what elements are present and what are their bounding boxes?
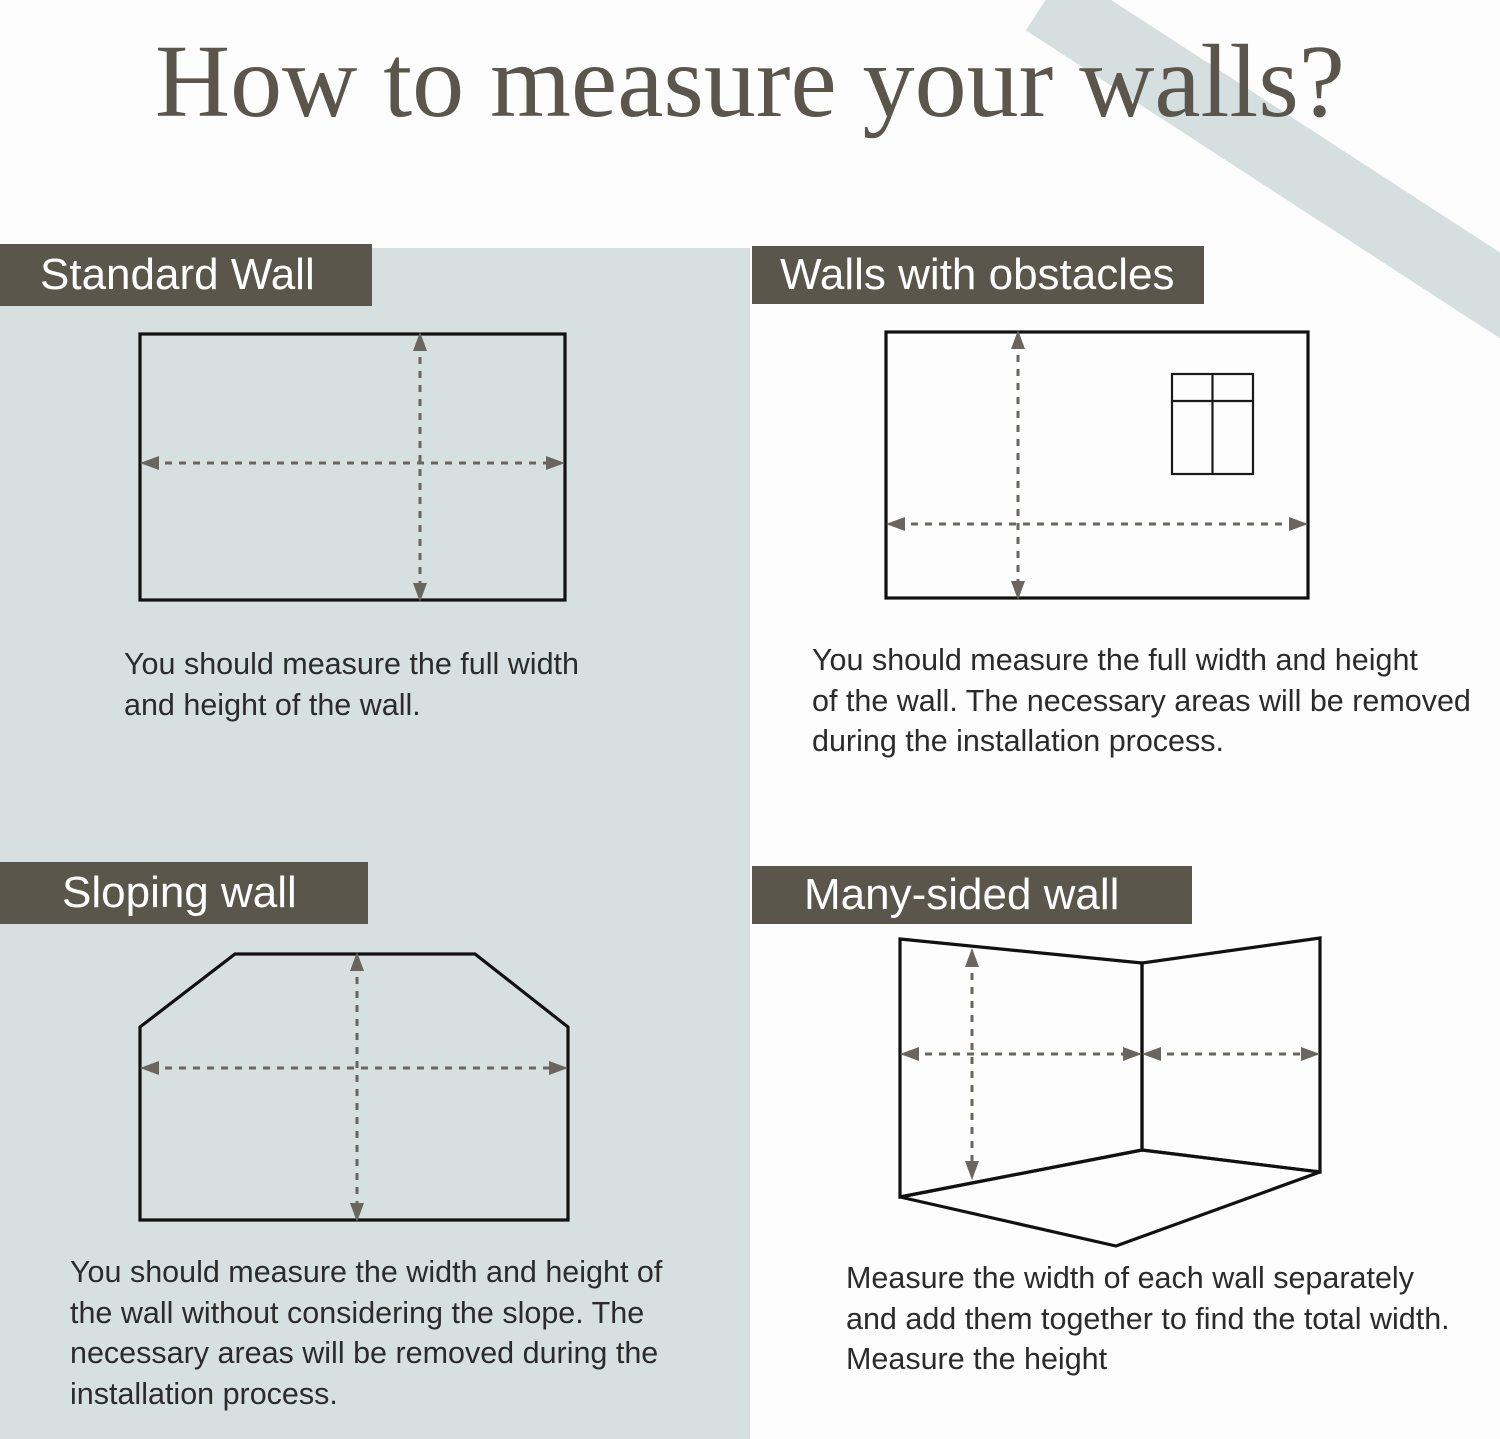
section-badge-many-sided-wall: Many-sided wall: [752, 866, 1192, 924]
width-dimension-arrow-left-wall: [900, 1047, 1142, 1061]
height-dimension-arrow: [965, 948, 979, 1180]
height-dimension-arrow: [413, 332, 427, 602]
room-floor: [900, 1150, 1320, 1246]
diagram-sloping-wall: [110, 930, 610, 1250]
page-title: How to measure your walls?: [0, 26, 1500, 138]
diagram-many-sided-wall: [870, 925, 1350, 1265]
section-body-walls-with-obstacles: You should measure the full width and he…: [812, 640, 1472, 762]
section-badge-walls-with-obstacles: Walls with obstacles: [752, 246, 1204, 304]
section-body-sloping-wall: You should measure the width and height …: [70, 1252, 690, 1414]
section-body-many-sided-wall: Measure the width of each wall separatel…: [846, 1258, 1466, 1380]
width-dimension-arrow: [140, 1061, 568, 1075]
section-badge-sloping-wall: Sloping wall: [0, 862, 368, 924]
height-dimension-arrow: [350, 952, 364, 1222]
width-dimension-arrow-right-wall: [1142, 1047, 1320, 1061]
diagram-walls-with-obstacles: [860, 312, 1360, 622]
width-dimension-arrow: [140, 456, 565, 470]
height-dimension-arrow: [1011, 330, 1025, 600]
infographic-page: How to measure your walls? Standard Wall…: [0, 0, 1500, 1439]
diagram-standard-wall: [110, 310, 610, 630]
section-badge-standard-wall: Standard Wall: [0, 244, 372, 306]
width-dimension-arrow: [886, 517, 1308, 531]
window-obstacle-icon: [1172, 374, 1253, 474]
section-body-standard-wall: You should measure the full width and he…: [124, 644, 644, 725]
